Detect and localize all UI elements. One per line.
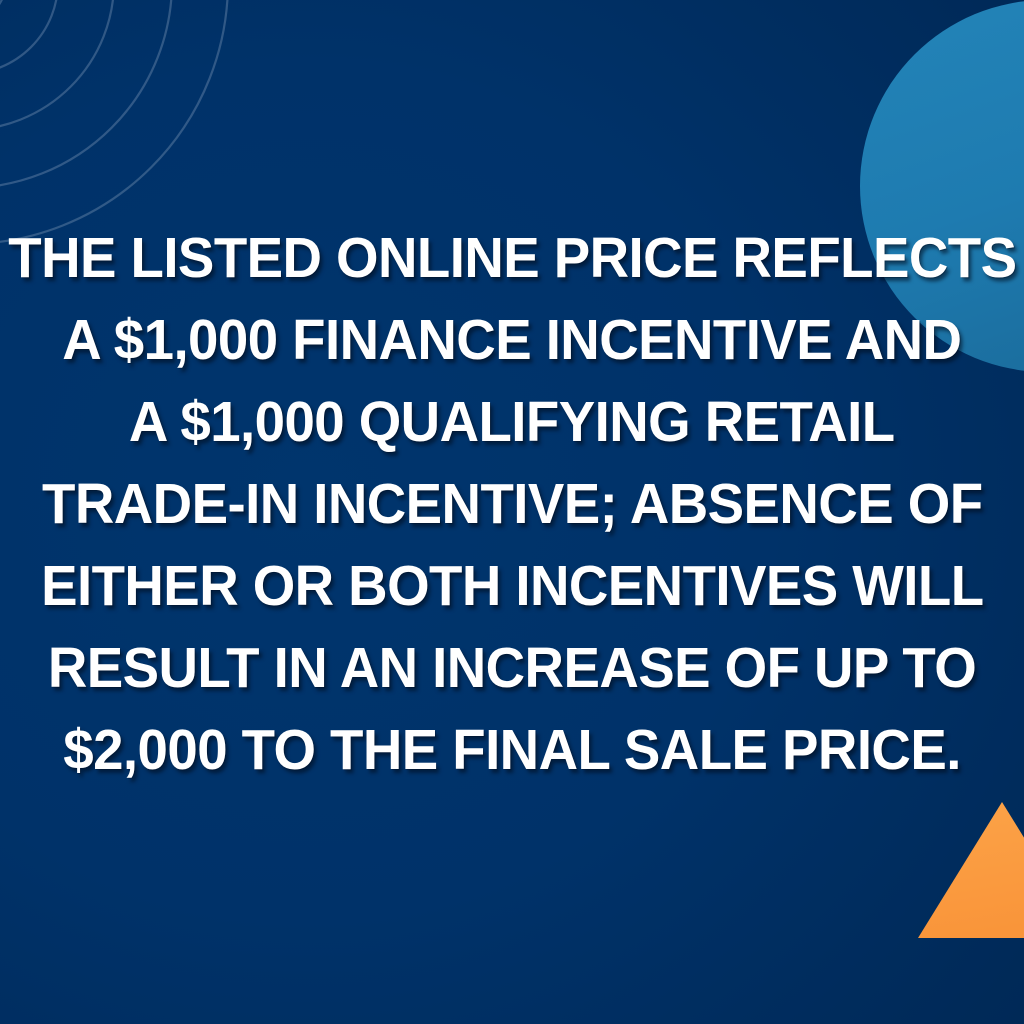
headline-line-6: RESULT IN AN INCREASE OF UP TO: [48, 628, 976, 710]
headline-line-7: $2,000 TO THE FINAL SALE PRICE.: [63, 710, 961, 792]
headline-line-4: TRADE-IN INCENTIVE; ABSENCE OF: [42, 464, 982, 546]
headline-text-block: THE LISTED ONLINE PRICE REFLECTS A $1,00…: [0, 0, 1024, 1024]
headline-line-2: A $1,000 FINANCE INCENTIVE AND: [62, 300, 961, 382]
promotional-disclaimer-graphic: THE LISTED ONLINE PRICE REFLECTS A $1,00…: [0, 0, 1024, 1024]
headline-line-1: THE LISTED ONLINE PRICE REFLECTS: [8, 218, 1016, 300]
headline-line-5: EITHER OR BOTH INCENTIVES WILL: [41, 546, 983, 628]
headline-line-3: A $1,000 QUALIFYING RETAIL: [129, 382, 895, 464]
